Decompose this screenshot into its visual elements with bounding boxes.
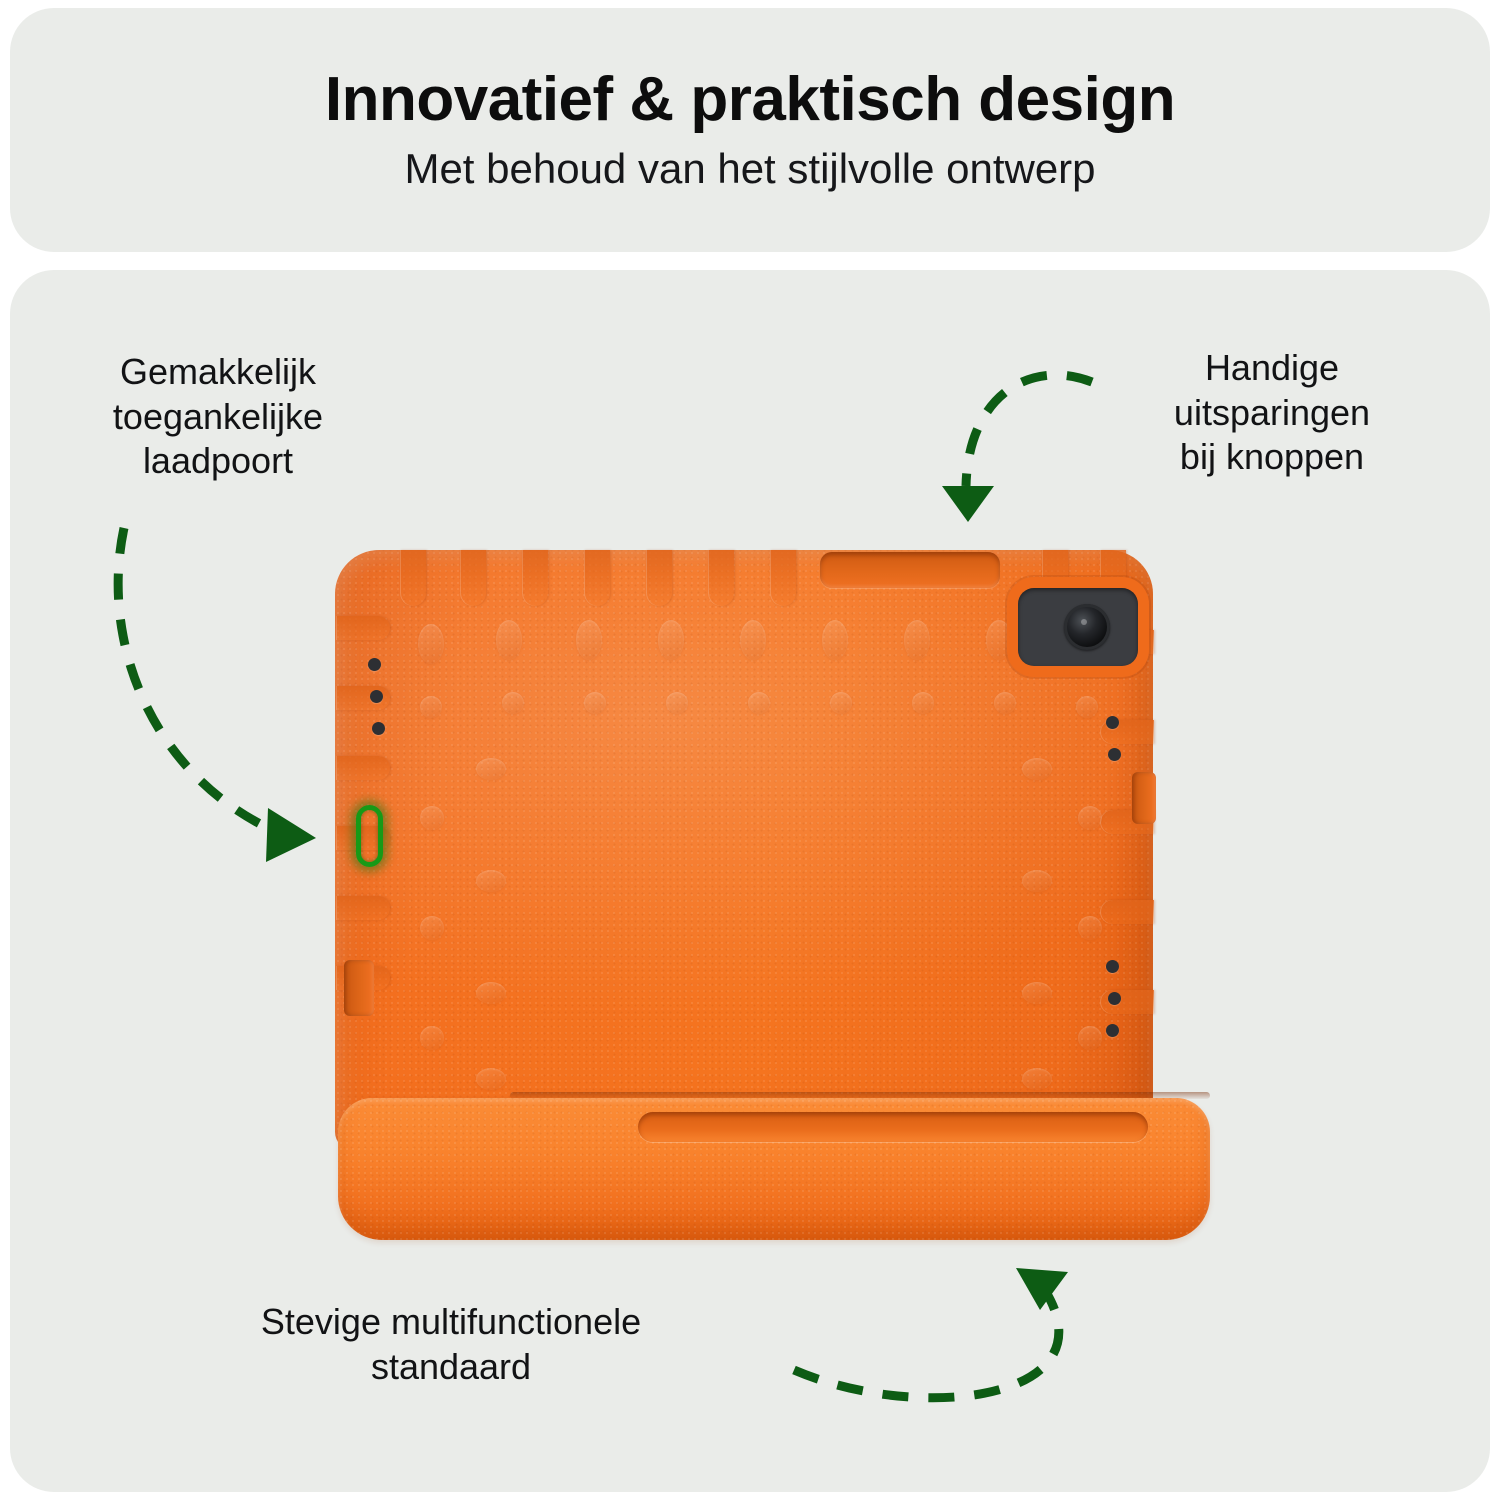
case-dimple xyxy=(496,620,522,660)
case-dimple xyxy=(904,620,930,660)
speaker-hole xyxy=(1106,1024,1119,1037)
case-dimple xyxy=(420,916,444,940)
speaker-hole xyxy=(1108,748,1121,761)
speaker-hole xyxy=(372,722,385,735)
callout-label-stand: Stevige multifunctionele standaard xyxy=(130,1300,772,1389)
case-dimple xyxy=(1078,916,1102,940)
speaker-hole xyxy=(1106,716,1119,729)
case-dimple xyxy=(476,982,506,1004)
case-dimple xyxy=(502,692,524,714)
product-image-tablet-case xyxy=(300,520,1240,1260)
case-side-notch xyxy=(1132,772,1156,824)
case-dimple xyxy=(822,620,848,660)
callout-label-button-cutouts: Handige uitsparingen bij knoppen xyxy=(1072,346,1472,480)
case-dimple xyxy=(420,1026,444,1050)
case-dimple xyxy=(1022,758,1052,780)
case-dimple xyxy=(476,870,506,892)
header-panel: Innovatief & praktisch design Met behoud… xyxy=(10,8,1490,252)
case-dimple xyxy=(1076,696,1098,718)
case-ridge-tab xyxy=(460,550,486,606)
case-ridge-tab xyxy=(1100,900,1154,924)
case-dimple xyxy=(476,758,506,780)
case-dimple xyxy=(476,1068,506,1090)
case-ridge-tab xyxy=(400,550,426,606)
callout-label-charging-port: Gemakkelijk toegankelijke laadpoort xyxy=(22,350,414,484)
case-ridge-tab xyxy=(584,550,610,606)
case-ridge-tab xyxy=(336,616,390,640)
case-ridge-tab xyxy=(770,550,796,606)
case-dimple xyxy=(1078,806,1102,830)
case-dimple xyxy=(986,620,1012,660)
case-ridge-tab xyxy=(522,550,548,606)
page-subtitle: Met behoud van het stijlvolle ontwerp xyxy=(404,146,1095,192)
case-dimple xyxy=(1022,1068,1052,1090)
case-dimple xyxy=(576,620,602,660)
case-ridge-tab xyxy=(336,756,390,780)
top-button-cutout xyxy=(820,552,1000,588)
case-ridge-tab xyxy=(646,550,672,606)
case-ridge-tab xyxy=(336,896,390,920)
case-dimple xyxy=(748,692,770,714)
case-dimple xyxy=(740,620,766,660)
stand-base xyxy=(338,1098,1210,1240)
page-title: Innovatief & praktisch design xyxy=(325,67,1175,132)
stand-groove xyxy=(638,1112,1148,1142)
speaker-hole xyxy=(370,690,383,703)
case-dimple xyxy=(1078,1026,1102,1050)
charging-port-highlight xyxy=(356,805,383,867)
case-dimple xyxy=(584,692,606,714)
infographic-stage: Innovatief & praktisch design Met behoud… xyxy=(0,0,1500,1500)
case-side-notch xyxy=(344,960,374,1016)
case-ridge-tab xyxy=(708,550,734,606)
case-dimple xyxy=(1022,982,1052,1004)
camera-lens xyxy=(1064,604,1110,650)
speaker-hole xyxy=(1106,960,1119,973)
case-dimple xyxy=(666,692,688,714)
case-dimple xyxy=(994,692,1016,714)
case-dimple xyxy=(912,692,934,714)
case-dimple xyxy=(420,696,442,718)
speaker-hole xyxy=(368,658,381,671)
case-dimple xyxy=(418,624,444,664)
case-dimple xyxy=(420,806,444,830)
case-dimple xyxy=(1022,870,1052,892)
case-dimple xyxy=(830,692,852,714)
camera-module xyxy=(1018,588,1138,666)
case-dimple xyxy=(658,620,684,660)
speaker-hole xyxy=(1108,992,1121,1005)
